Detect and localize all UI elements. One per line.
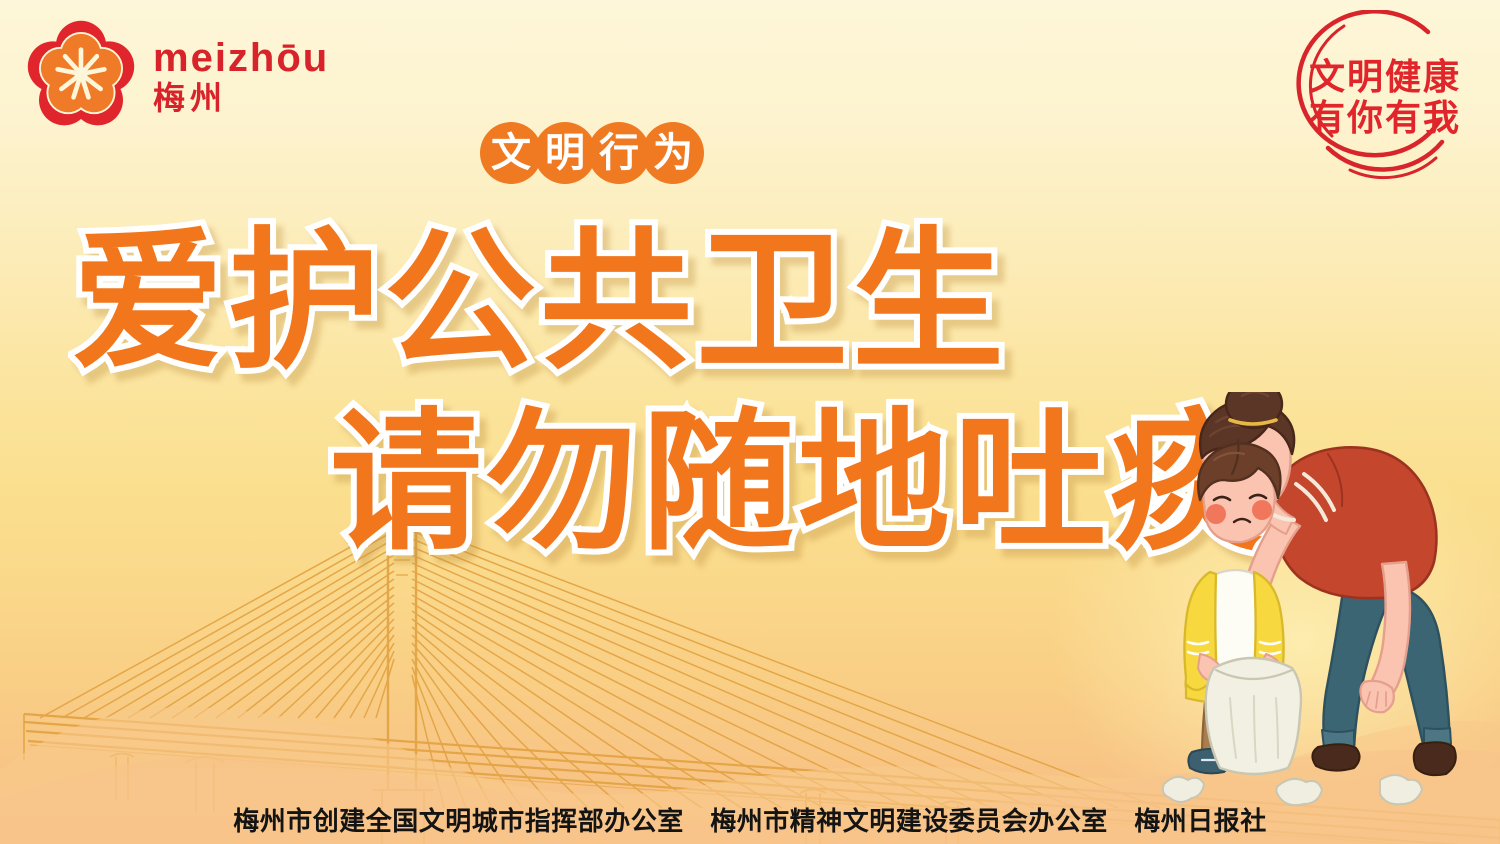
litter-1 [1163, 777, 1204, 802]
eyebrow-char-3: 行 [588, 122, 650, 184]
logo-chinese-name: 梅州 [153, 82, 329, 114]
headline-line-2: 请勿随地吐痰 [0, 386, 1230, 581]
litter-3 [1380, 775, 1422, 804]
badge-text-group: 文明健康 有你有我 [1290, 10, 1480, 185]
footer-organizations: 梅州市创建全国文明城市指挥部办公室 梅州市精神文明建设委员会办公室 梅州日报社 [233, 801, 1267, 838]
health-slogan-badge: 文明健康 有你有我 [1290, 10, 1480, 185]
headline-line-1: 爱护公共卫生 [0, 205, 1230, 400]
eyebrow-label: 文 明 行 为 [480, 122, 696, 184]
child-blush-right [1252, 500, 1272, 520]
logo-wordmark: meizhōu 梅州 [153, 34, 329, 114]
adult-shoe-back [1414, 742, 1456, 775]
page-title: 爱护公共卫生 请勿随地吐痰 [0, 205, 1230, 580]
mother-and-child-illustration [1158, 392, 1500, 822]
meizhou-logo: meizhōu 梅州 [25, 18, 329, 130]
child-blush-left [1206, 504, 1226, 524]
plum-blossom-icon [25, 18, 137, 130]
eyebrow-char-2: 明 [534, 122, 596, 184]
eyebrow-char-1: 文 [480, 122, 542, 184]
illustration-artwork [1158, 392, 1500, 822]
eyebrow-char-4: 为 [642, 122, 704, 184]
logo-pinyin: meizhōu [153, 38, 329, 78]
footer-bar: 梅州市创建全国文明城市指挥部办公室 梅州市精神文明建设委员会办公室 梅州日报社 [0, 801, 1500, 838]
poster-canvas: meizhōu 梅州 文明健康 有你有我 文 明 行 为 爱护公共卫生 请勿随地… [0, 0, 1500, 844]
badge-line-1: 文明健康 [1309, 58, 1461, 96]
child-shirt [1213, 570, 1260, 668]
adult-shoe-front [1312, 744, 1359, 770]
badge-line-2: 有你有我 [1309, 99, 1461, 137]
